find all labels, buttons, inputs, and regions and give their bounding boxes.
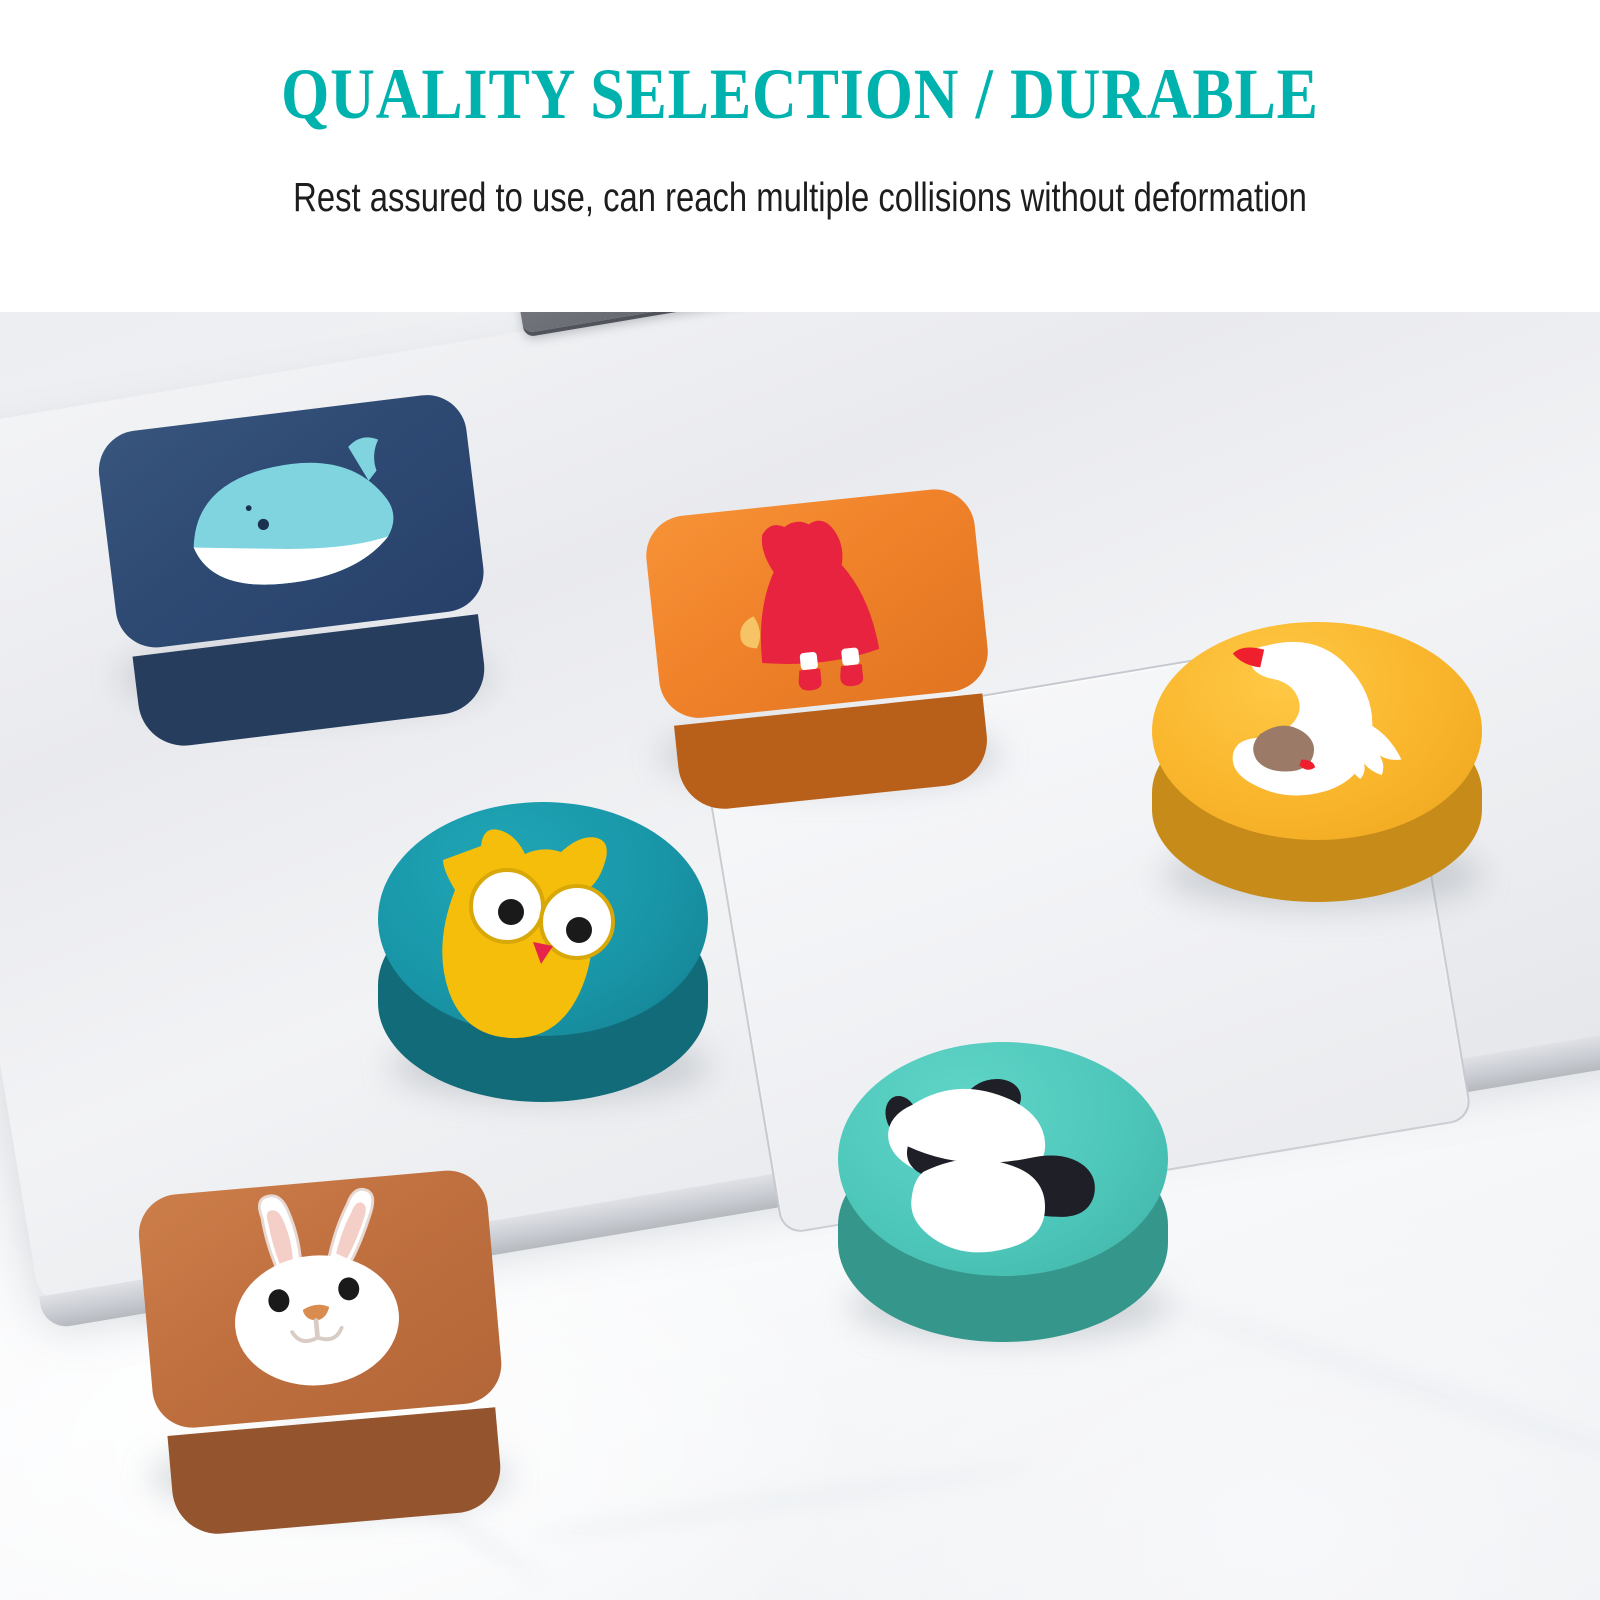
rabbit-icon bbox=[192, 1183, 439, 1412]
marble-vein bbox=[1159, 1292, 1600, 1476]
keycap-swan[interactable] bbox=[1152, 622, 1482, 902]
product-banner: QUALITY SELECTION / DURABLE Rest assured… bbox=[0, 0, 1600, 1600]
page-subtitle: Rest assured to use, can reach multiple … bbox=[160, 174, 1440, 221]
keycap-panda[interactable] bbox=[838, 1042, 1168, 1342]
keycap-whale[interactable] bbox=[94, 390, 495, 713]
keycap-girl[interactable] bbox=[642, 485, 997, 778]
swan-icon bbox=[1190, 634, 1452, 830]
owl-icon bbox=[436, 826, 646, 1046]
keycap-rabbit[interactable] bbox=[136, 1167, 511, 1496]
page-title: QUALITY SELECTION / DURABLE bbox=[112, 58, 1488, 130]
marble-vein bbox=[521, 1456, 1039, 1548]
whale-icon bbox=[145, 420, 455, 634]
girl-red-riding-hood-icon bbox=[715, 506, 925, 725]
banner-header: QUALITY SELECTION / DURABLE Rest assured… bbox=[0, 0, 1600, 312]
key-spacebar[interactable] bbox=[506, 312, 939, 333]
keycap-owl[interactable] bbox=[378, 802, 708, 1102]
product-photo: fn control alt option ⌘ command Z X C bbox=[0, 312, 1600, 1600]
panda-icon bbox=[882, 1064, 1112, 1260]
